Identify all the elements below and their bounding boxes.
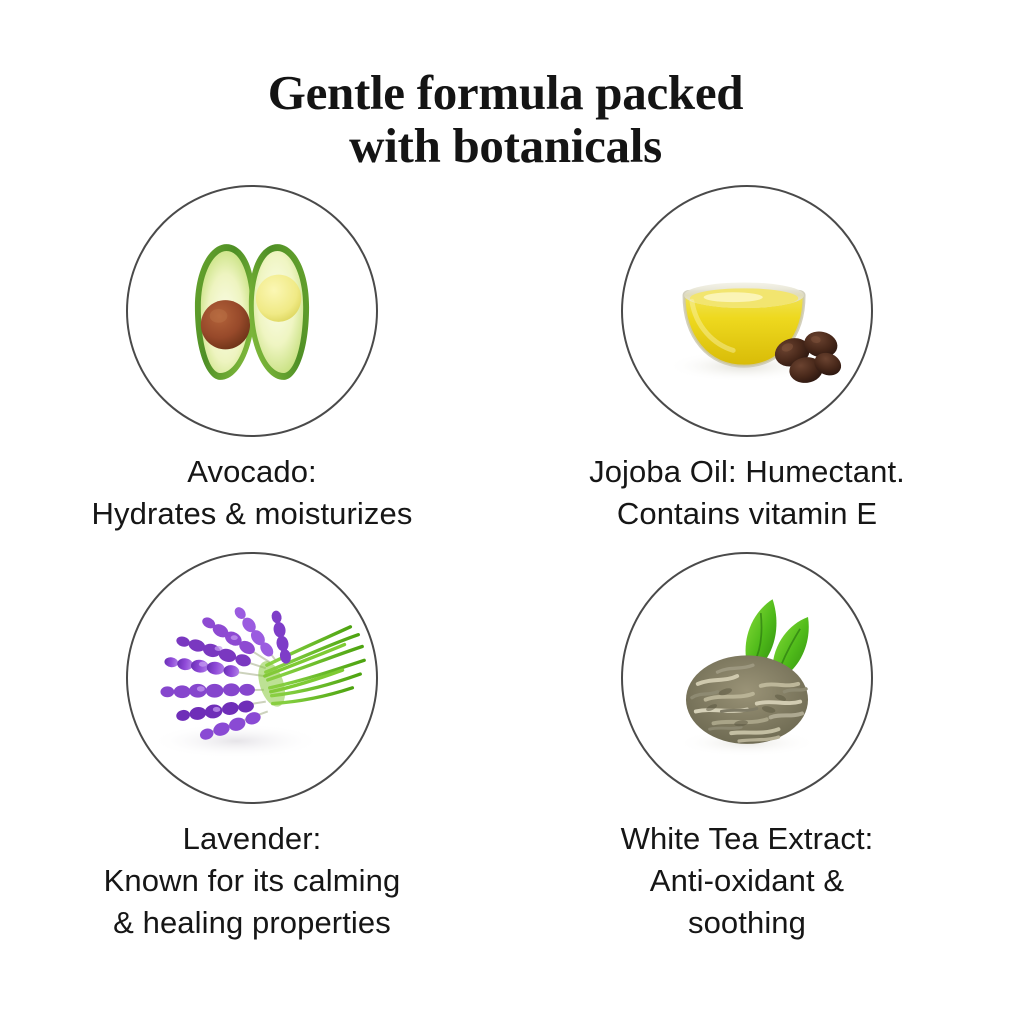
jojoba-circle-frame <box>621 185 873 437</box>
jojoba-caption: Jojoba Oil: Humectant. Contains vitamin … <box>507 451 987 535</box>
avocado-caption-line-1: Avocado: <box>12 451 492 493</box>
infographic-page: Gentle formula packed with botanicals <box>0 0 1011 1011</box>
lavender-caption-line-2: Known for its calming <box>12 860 492 902</box>
lavender-caption: Lavender: Known for its calming & healin… <box>12 818 492 944</box>
lavender-caption-line-3: & healing properties <box>12 902 492 944</box>
avocado-pit <box>201 300 250 349</box>
lavender-bunch-image <box>128 554 376 802</box>
avocado-circle-wrap <box>126 185 378 437</box>
ingredient-card-lavender: Lavender: Known for its calming & healin… <box>12 552 492 944</box>
jojoba-caption-line-1: Jojoba Oil: Humectant. <box>507 451 987 493</box>
jojoba-circle-wrap <box>621 185 873 437</box>
ingredient-card-jojoba-oil: Jojoba Oil: Humectant. Contains vitamin … <box>507 185 987 535</box>
avocado-circle-frame <box>126 185 378 437</box>
lavender-caption-line-1: Lavender: <box>12 818 492 860</box>
avocado-half-with-pit <box>195 244 255 380</box>
avocado-caption: Avocado: Hydrates & moisturizes <box>12 451 492 535</box>
avocado-halves-image <box>128 187 376 435</box>
lavender-circle-wrap <box>126 552 378 804</box>
avocado-hollow <box>256 275 301 322</box>
jojoba-oil-bowl-image <box>623 187 871 435</box>
ingredient-card-avocado: Avocado: Hydrates & moisturizes <box>12 185 492 535</box>
white-tea-caption-line-1: White Tea Extract: <box>507 818 987 860</box>
white-tea-caption: White Tea Extract: Anti-oxidant & soothi… <box>507 818 987 944</box>
white-tea-caption-line-3: soothing <box>507 902 987 944</box>
page-title-line-1: Gentle formula packed <box>0 66 1011 119</box>
lavender-circle-frame <box>126 552 378 804</box>
avocado-half-hollow <box>249 244 309 380</box>
jojoba-caption-line-2: Contains vitamin E <box>507 493 987 535</box>
dried-tea-pile <box>686 655 808 744</box>
white-tea-circle-frame <box>621 552 873 804</box>
ingredient-card-white-tea-extract: White Tea Extract: Anti-oxidant & soothi… <box>507 552 987 944</box>
avocado-caption-line-2: Hydrates & moisturizes <box>12 493 492 535</box>
white-tea-leaves-image <box>623 554 871 802</box>
white-tea-circle-wrap <box>621 552 873 804</box>
page-title-line-2: with botanicals <box>0 119 1011 172</box>
white-tea-caption-line-2: Anti-oxidant & <box>507 860 987 902</box>
page-title: Gentle formula packed with botanicals <box>0 66 1011 172</box>
